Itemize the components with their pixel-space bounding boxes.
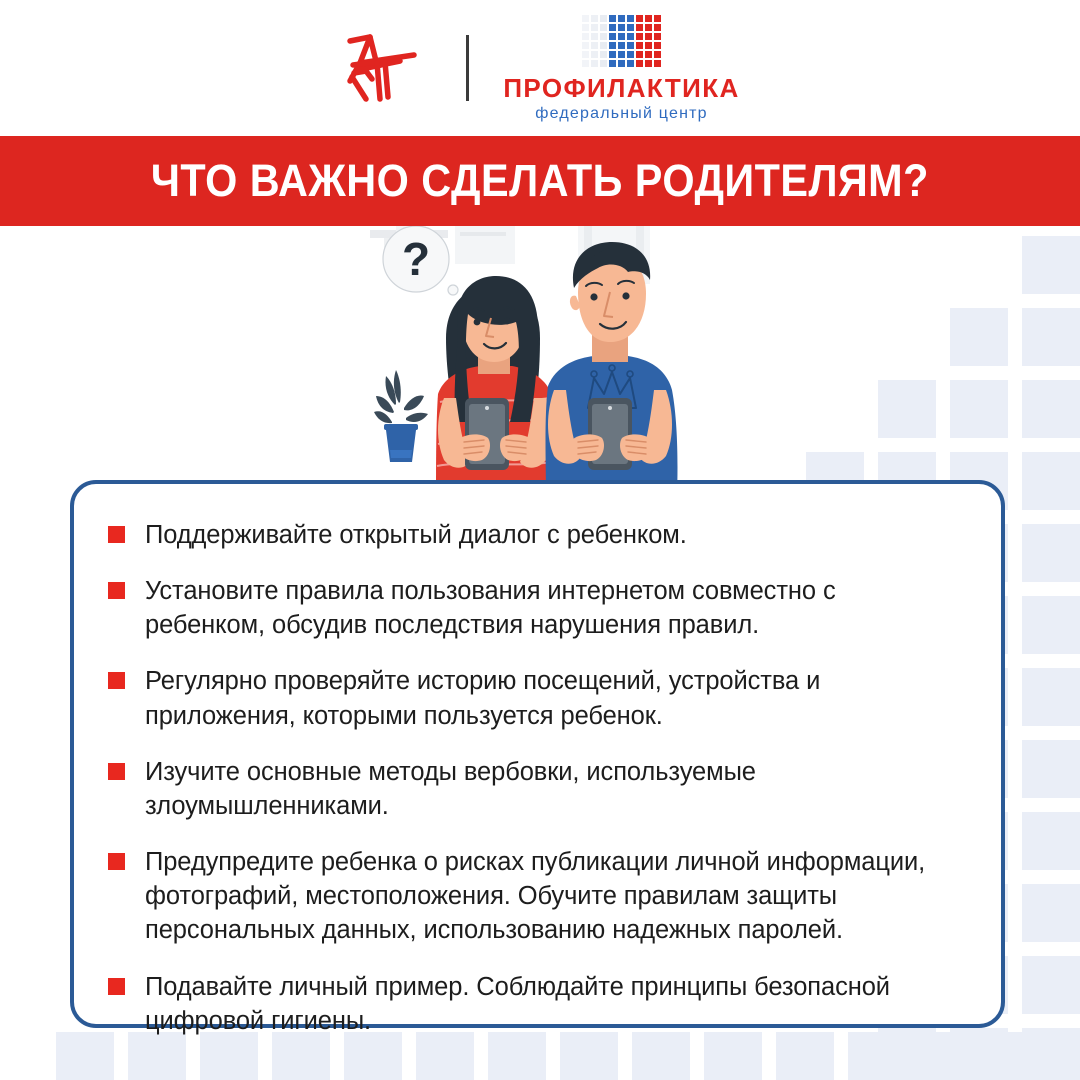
brand-grid-cell	[609, 24, 616, 31]
background-square	[992, 1032, 1050, 1080]
svg-text:?: ?	[402, 233, 430, 285]
tips-card: Поддерживайте открытый диалог с ребенком…	[70, 480, 1005, 1028]
brand-name: ПРОФИЛАКТИКА	[503, 75, 739, 101]
background-square	[1022, 380, 1080, 438]
brand-grid-cell	[591, 60, 598, 67]
background-square	[848, 1032, 906, 1080]
brand-grid-cell	[618, 60, 625, 67]
brand-grid-cell	[627, 15, 634, 22]
background-square	[950, 1028, 1008, 1080]
background-square	[1022, 668, 1080, 726]
logo-bar: ПРОФИЛАКТИКА федеральный центр	[0, 0, 1080, 136]
brand-grid-cell	[618, 33, 625, 40]
tip-item: Регулярно проверяйте историю посещений, …	[108, 664, 957, 732]
brand-grid-cell	[600, 15, 607, 22]
brand-grid-cell	[600, 24, 607, 31]
brand-grid-cell	[600, 60, 607, 67]
background-square	[200, 1032, 258, 1080]
title-banner: ЧТО ВАЖНО СДЕЛАТЬ РОДИТЕЛЯМ?	[0, 136, 1080, 226]
brand-grid-cell	[609, 33, 616, 40]
brand-grid-cell	[618, 24, 625, 31]
brand-grid-cell	[600, 51, 607, 58]
brand-grid-cell	[582, 60, 589, 67]
brand-grid-cell	[627, 42, 634, 49]
poster-root: ПРОФИЛАКТИКА федеральный центр ЧТО ВАЖНО…	[0, 0, 1080, 1080]
brand-grid-cell	[618, 42, 625, 49]
background-square	[272, 1032, 330, 1080]
brand-grid-cell	[582, 33, 589, 40]
brand-grid-cell	[609, 60, 616, 67]
brand-grid-cell	[591, 51, 598, 58]
brand-subtitle: федеральный центр	[535, 106, 707, 122]
brand-grid-cell	[591, 33, 598, 40]
brand-grid-cell	[627, 24, 634, 31]
brand-grid-cell	[618, 51, 625, 58]
brand-grid-cell	[654, 60, 661, 67]
background-square	[920, 1032, 978, 1080]
background-square	[1022, 956, 1080, 1014]
brand-grid-cell	[582, 15, 589, 22]
tip-text: Поддерживайте открытый диалог с ребенком…	[145, 518, 687, 552]
brand-grid-cell	[636, 51, 643, 58]
brand-block: ПРОФИЛАКТИКА федеральный центр	[503, 15, 739, 122]
brand-grid-cell	[654, 42, 661, 49]
background-square	[1022, 236, 1080, 294]
brand-grid-cell	[609, 51, 616, 58]
tip-item: Изучите основные методы вербовки, исполь…	[108, 755, 957, 823]
brand-grid-cell	[654, 24, 661, 31]
brand-grid-cell	[609, 42, 616, 49]
brand-grid-cell	[591, 24, 598, 31]
brand-grid-cell	[645, 24, 652, 31]
brand-grid-cell	[609, 15, 616, 22]
brand-grid-cell	[654, 33, 661, 40]
background-square	[1022, 812, 1080, 870]
brand-grid-cell	[645, 15, 652, 22]
brand-grid-cell	[627, 51, 634, 58]
tip-text: Подавайте личный пример. Соблюдайте прин…	[145, 970, 957, 1038]
brand-grid-cell	[600, 33, 607, 40]
brand-grid-cell	[636, 60, 643, 67]
tip-item: Подавайте личный пример. Соблюдайте прин…	[108, 970, 957, 1038]
brand-grid-cell	[636, 24, 643, 31]
two-people-illustration: ?	[360, 226, 720, 496]
brand-grid-cell	[582, 51, 589, 58]
bullet-square-icon	[108, 526, 125, 543]
background-square	[488, 1032, 546, 1080]
brand-grid-cell	[636, 42, 643, 49]
tip-text: Изучите основные методы вербовки, исполь…	[145, 755, 957, 823]
background-square	[344, 1032, 402, 1080]
brand-grid-cell	[645, 60, 652, 67]
background-square	[632, 1032, 690, 1080]
logo-divider	[466, 35, 469, 101]
brand-grid-cell	[582, 42, 589, 49]
background-square	[128, 1032, 186, 1080]
background-square	[1022, 308, 1080, 366]
background-square	[1022, 884, 1080, 942]
background-square	[1022, 524, 1080, 582]
tip-text: Установите правила пользования интернето…	[145, 574, 957, 642]
background-square	[950, 308, 1008, 366]
bullet-square-icon	[108, 582, 125, 599]
bullet-square-icon	[108, 672, 125, 689]
background-square	[416, 1032, 474, 1080]
brand-grid-cell	[645, 51, 652, 58]
background-square	[1022, 596, 1080, 654]
background-square	[56, 1032, 114, 1080]
tip-item: Установите правила пользования интернето…	[108, 574, 957, 642]
bullet-square-icon	[108, 978, 125, 995]
brand-grid-cell	[636, 33, 643, 40]
background-square	[560, 1032, 618, 1080]
tip-item: Предупредите ребенка о рисках публикации…	[108, 845, 957, 947]
tip-text: Предупредите ребенка о рисках публикации…	[145, 845, 957, 947]
tip-item: Поддерживайте открытый диалог с ребенком…	[108, 518, 957, 552]
background-square	[776, 1032, 834, 1080]
brand-grid-cell	[582, 24, 589, 31]
background-square	[1022, 1028, 1080, 1080]
brand-grid-cell	[645, 42, 652, 49]
background-square	[704, 1032, 762, 1080]
background-square	[1022, 452, 1080, 510]
brand-grid-cell	[645, 33, 652, 40]
chair-logo-icon	[340, 29, 432, 107]
brand-grid-cell	[636, 15, 643, 22]
background-square	[878, 380, 936, 438]
tip-text: Регулярно проверяйте историю посещений, …	[145, 664, 957, 732]
brand-grid-cell	[591, 42, 598, 49]
brand-grid-icon	[582, 15, 661, 67]
brand-grid-cell	[591, 15, 598, 22]
background-square	[950, 380, 1008, 438]
background-square	[1022, 740, 1080, 798]
brand-grid-cell	[654, 51, 661, 58]
brand-grid-cell	[618, 15, 625, 22]
brand-grid-cell	[600, 42, 607, 49]
brand-grid-cell	[627, 33, 634, 40]
brand-grid-cell	[627, 60, 634, 67]
bullet-square-icon	[108, 853, 125, 870]
page-title: ЧТО ВАЖНО СДЕЛАТЬ РОДИТЕЛЯМ?	[151, 155, 929, 207]
bullet-square-icon	[108, 763, 125, 780]
tips-list: Поддерживайте открытый диалог с ребенком…	[108, 518, 957, 1038]
brand-grid-cell	[654, 15, 661, 22]
